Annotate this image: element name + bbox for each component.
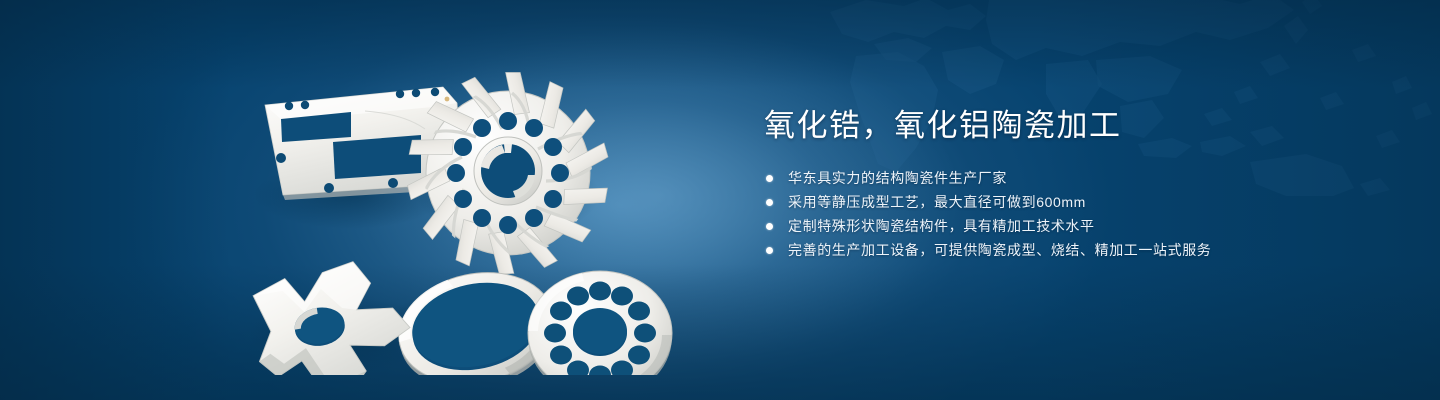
feature-list-item: 采用等静压成型工艺，最大直径可做到600mm — [764, 190, 1404, 214]
banner-headline: 氧化锆，氧化铝陶瓷加工 — [764, 104, 1404, 148]
ceramic-perforated-disc-shape — [528, 271, 672, 375]
bullet-dot-icon — [766, 247, 773, 254]
feature-list-item: 完善的生产加工设备，可提供陶瓷成型、烧结、精加工一站式服务 — [764, 238, 1404, 262]
feature-list-item: 定制特殊形状陶瓷结构件，具有精加工技术水平 — [764, 214, 1404, 238]
product-banner: 氧化锆，氧化铝陶瓷加工 华东具实力的结构陶瓷件生产厂家 采用等静压成型工艺，最大… — [0, 0, 1440, 400]
feature-text: 完善的生产加工设备，可提供陶瓷成型、烧结、精加工一站式服务 — [788, 242, 1211, 258]
bullet-dot-icon — [766, 223, 773, 230]
bullet-dot-icon — [766, 199, 773, 206]
bullet-dot-icon — [766, 175, 773, 182]
feature-text: 华东具实力的结构陶瓷件生产厂家 — [788, 170, 1007, 186]
feature-text: 定制特殊形状陶瓷结构件，具有精加工技术水平 — [788, 218, 1095, 234]
banner-feature-list: 华东具实力的结构陶瓷件生产厂家 采用等静压成型工艺，最大直径可做到600mm 定… — [764, 166, 1404, 262]
banner-text-block: 氧化锆，氧化铝陶瓷加工 华东具实力的结构陶瓷件生产厂家 采用等静压成型工艺，最大… — [764, 104, 1404, 262]
feature-list-item: 华东具实力的结构陶瓷件生产厂家 — [764, 166, 1404, 190]
feature-text: 采用等静压成型工艺，最大直径可做到600mm — [788, 194, 1086, 210]
ceramic-products-artwork — [225, 45, 715, 375]
